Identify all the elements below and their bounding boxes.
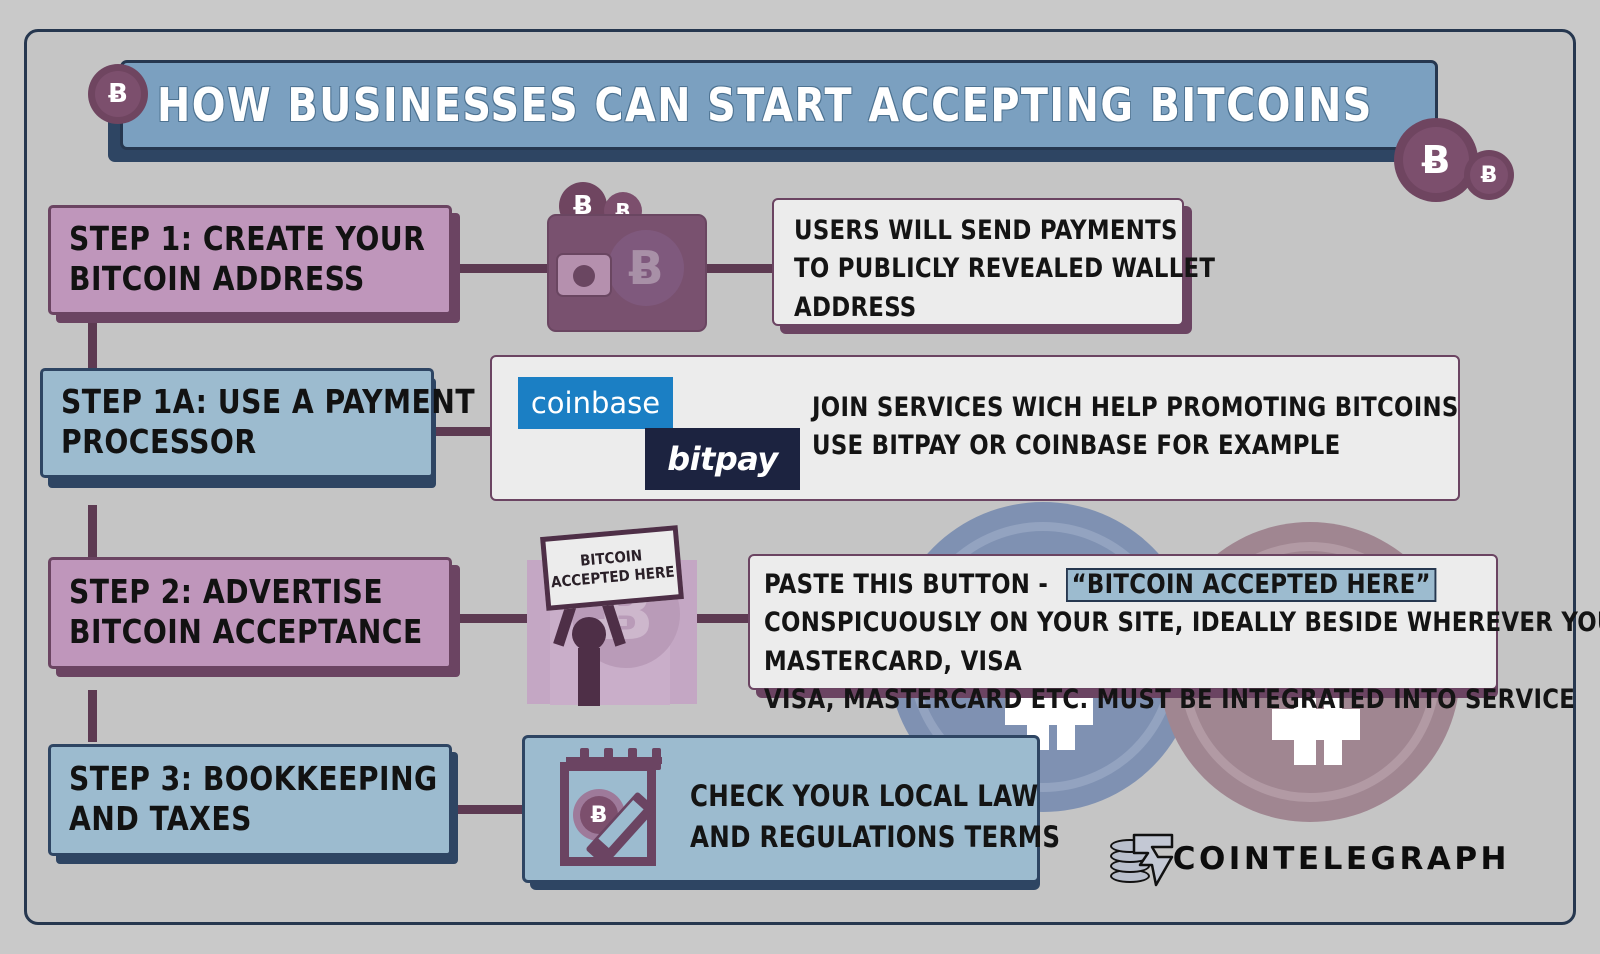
bitcoin-coin-icon-title-right-small: Ƀ — [1464, 150, 1514, 200]
step-1-line-2: BITCOIN ADDRESS — [69, 259, 415, 299]
panel-1a-line-1: JOIN SERVICES WICH HELP PROMOTING BITCOI… — [812, 389, 1459, 427]
bitcoin-accepted-here-button[interactable]: “BITCOIN ACCEPTED HERE” — [1066, 568, 1436, 602]
cointelegraph-logo: COINTELEGRAPH — [1110, 828, 1510, 890]
panel-2-line-1: CONSPICUOUSLY ON YOUR SITE, IDEALLY BESI… — [764, 604, 1452, 642]
bitcoin-symbol: Ƀ — [1403, 127, 1469, 193]
wallet-clasp-dot-icon — [573, 265, 595, 287]
notebook-ring-icon — [580, 748, 589, 770]
sign-line-2: ACCEPTED HERE — [550, 563, 675, 592]
bitpay-logo[interactable]: bitpay — [645, 428, 800, 490]
notebook-ring-icon — [652, 748, 661, 770]
connector-step1-to-wallet — [455, 264, 555, 273]
coinbase-logo-text: coinbase — [531, 386, 660, 420]
step-1-line-1: STEP 1: CREATE YOUR — [69, 219, 415, 259]
panel-1-line-2: TO PUBLICLY REVEALED WALLET — [794, 250, 1159, 288]
notebook-ring-icon — [628, 748, 637, 770]
page-title: HOW BUSINESSES CAN START ACCEPTING BITCO… — [157, 78, 1373, 132]
title-banner: HOW BUSINESSES CAN START ACCEPTING BITCO… — [120, 60, 1438, 150]
panel-3-line-1: CHECK YOUR LOCAL LAW — [690, 776, 1060, 817]
step-1a-line-1: STEP 1A: USE A PAYMENT — [61, 382, 397, 422]
cointelegraph-wordmark: COINTELEGRAPH — [1173, 841, 1510, 877]
step-1a-box[interactable]: STEP 1A: USE A PAYMENT PROCESSOR — [40, 368, 434, 478]
step-2-line-2: BITCOIN ACCEPTANCE — [69, 612, 415, 652]
connector-step1-to-step1a — [88, 318, 97, 370]
notebook-ring-icon — [604, 748, 613, 770]
step-2-line-1: STEP 2: ADVERTISE — [69, 572, 415, 612]
protester-body-icon — [578, 648, 600, 706]
bitcoin-coin-icon-title-right-large: Ƀ — [1394, 118, 1478, 202]
coinbase-logo[interactable]: coinbase — [518, 377, 673, 429]
connector-step1a-to-step2 — [88, 505, 97, 557]
panel-2-line-2: MASTERCARD, VISA — [764, 643, 1452, 681]
bitcoin-coin-icon-title-left: Ƀ — [88, 64, 148, 124]
step-2-box[interactable]: STEP 2: ADVERTISE BITCOIN ACCEPTANCE — [48, 557, 452, 669]
bitcoin-symbol: Ƀ — [1470, 156, 1508, 194]
step-1a-line-2: PROCESSOR — [61, 422, 397, 462]
wallet-bitcoin-emblem: Ƀ — [608, 230, 684, 306]
cointelegraph-mark-icon — [1110, 831, 1157, 887]
panel-1a-line-2: USE BITPAY OR COINBASE FOR EXAMPLE — [812, 427, 1459, 465]
bitcoin-accepted-here-sign-icon: BITCOIN ACCEPTED HERE — [540, 525, 684, 611]
panel-1-line-1: USERS WILL SEND PAYMENTS — [794, 212, 1159, 250]
panel-1: USERS WILL SEND PAYMENTS TO PUBLICLY REV… — [772, 198, 1184, 326]
bitpay-logo-text: bitpay — [667, 440, 778, 478]
panel-1-line-3: ADDRESS — [794, 289, 1159, 327]
panel-2: PASTE THIS BUTTON - “BITCOIN ACCEPTED HE… — [748, 554, 1498, 690]
protester-head-icon — [572, 617, 606, 651]
step-3-line-2: AND TAXES — [69, 799, 415, 839]
lightning-bolt-icon — [1128, 831, 1174, 887]
step-3-line-1: STEP 3: BOOKKEEPING — [69, 759, 415, 799]
step-1-box[interactable]: STEP 1: CREATE YOUR BITCOIN ADDRESS — [48, 205, 452, 315]
panel-3-line-2: AND REGULATIONS TERMS — [690, 817, 1060, 858]
panel-2-line-3: VISA, MASTERCARD ETC. MUST BE INTEGRATED… — [764, 681, 1452, 719]
connector-step2-to-step3 — [88, 690, 97, 742]
panel-2-prefix: PASTE THIS BUTTON - — [764, 566, 1048, 604]
step-3-box[interactable]: STEP 3: BOOKKEEPING AND TAXES — [48, 744, 452, 856]
infographic-canvas: HOW BUSINESSES CAN START ACCEPTING BITCO… — [0, 0, 1600, 954]
bitcoin-symbol: Ƀ — [95, 71, 141, 117]
